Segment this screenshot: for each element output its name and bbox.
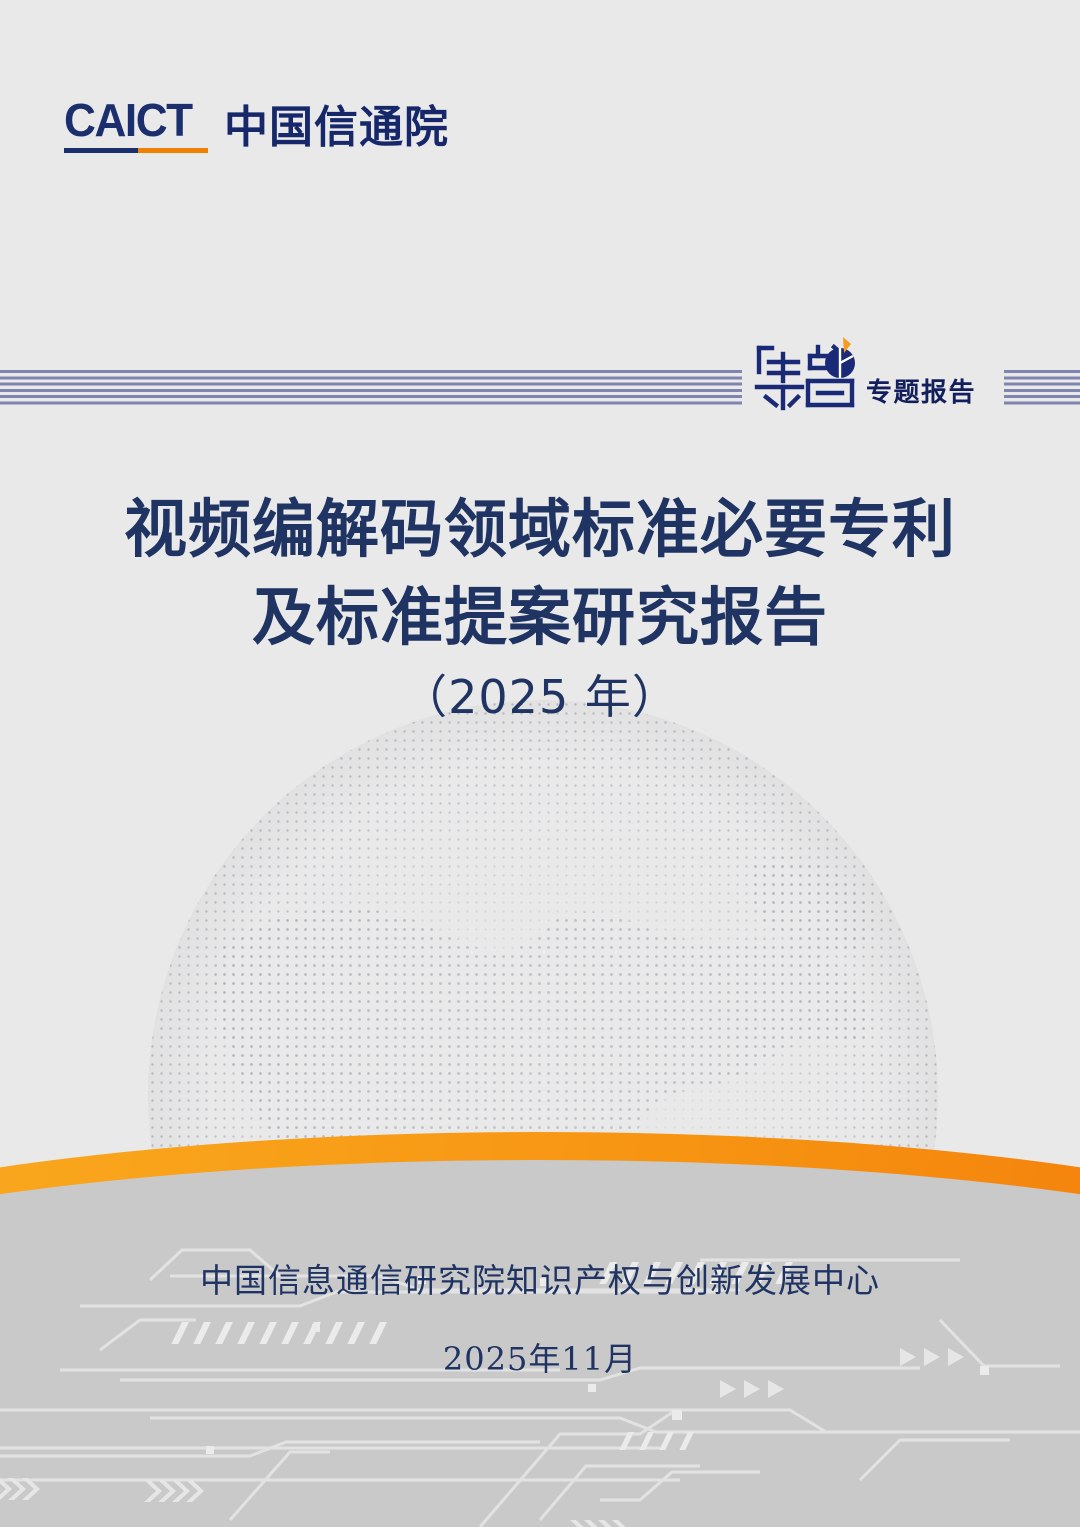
caict-logo: CAICT 中国信通院 — [64, 97, 449, 153]
caict-underline — [64, 148, 208, 153]
caict-wordmark-text: CAICT — [64, 97, 202, 143]
title-line-2: 及标准提案研究报告 — [0, 574, 1080, 662]
caict-underline-blue — [64, 148, 138, 153]
cover-footer-text: 中国信息通信研究院知识产权与创新发展中心 2025年11月 — [0, 1258, 1080, 1382]
caict-underline-orange — [138, 148, 208, 153]
special-report-badge: 专题报告 — [752, 333, 976, 415]
jizhi-brand-icon — [752, 335, 860, 415]
title-subtitle-year: （2025 年） — [0, 662, 1080, 732]
special-report-label: 专题报告 — [866, 380, 976, 406]
report-cover-page: CAICT 中国信通院 — [0, 0, 1080, 1527]
title-line-1: 视频编解码领域标准必要专利 — [0, 486, 1080, 574]
jizhi-brand-glyph — [752, 335, 860, 415]
page-title: 视频编解码领域标准必要专利 及标准提案研究报告 （2025 年） — [0, 486, 1080, 732]
publishing-organization: 中国信息通信研究院知识产权与创新发展中心 — [0, 1258, 1080, 1304]
publication-date: 2025年11月 — [0, 1336, 1080, 1382]
caict-chinese-name: 中国信通院 — [224, 106, 449, 150]
caict-wordmark: CAICT — [64, 97, 208, 153]
